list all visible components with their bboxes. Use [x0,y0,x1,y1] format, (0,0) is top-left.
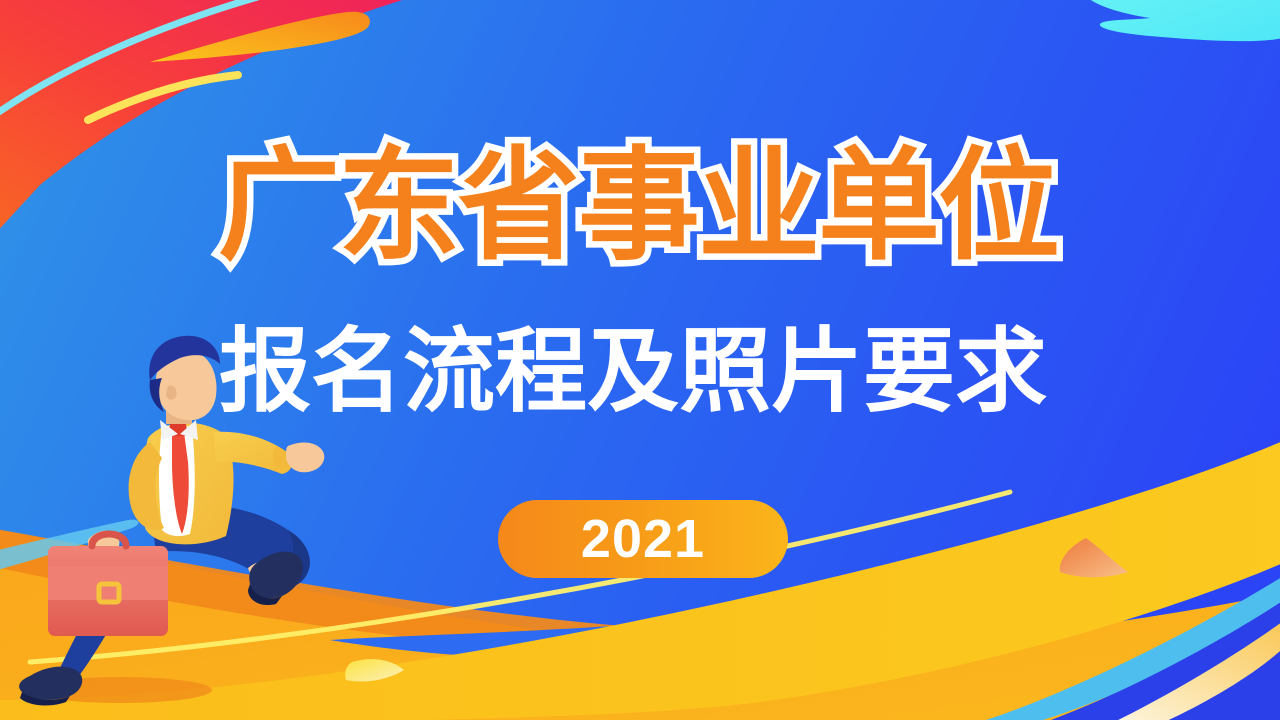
character-front-hand [286,443,324,473]
promo-banner: 广东省事业单位 报名流程及照片要求 2021 [0,0,1280,720]
running-businessman-illustration [0,0,1280,720]
